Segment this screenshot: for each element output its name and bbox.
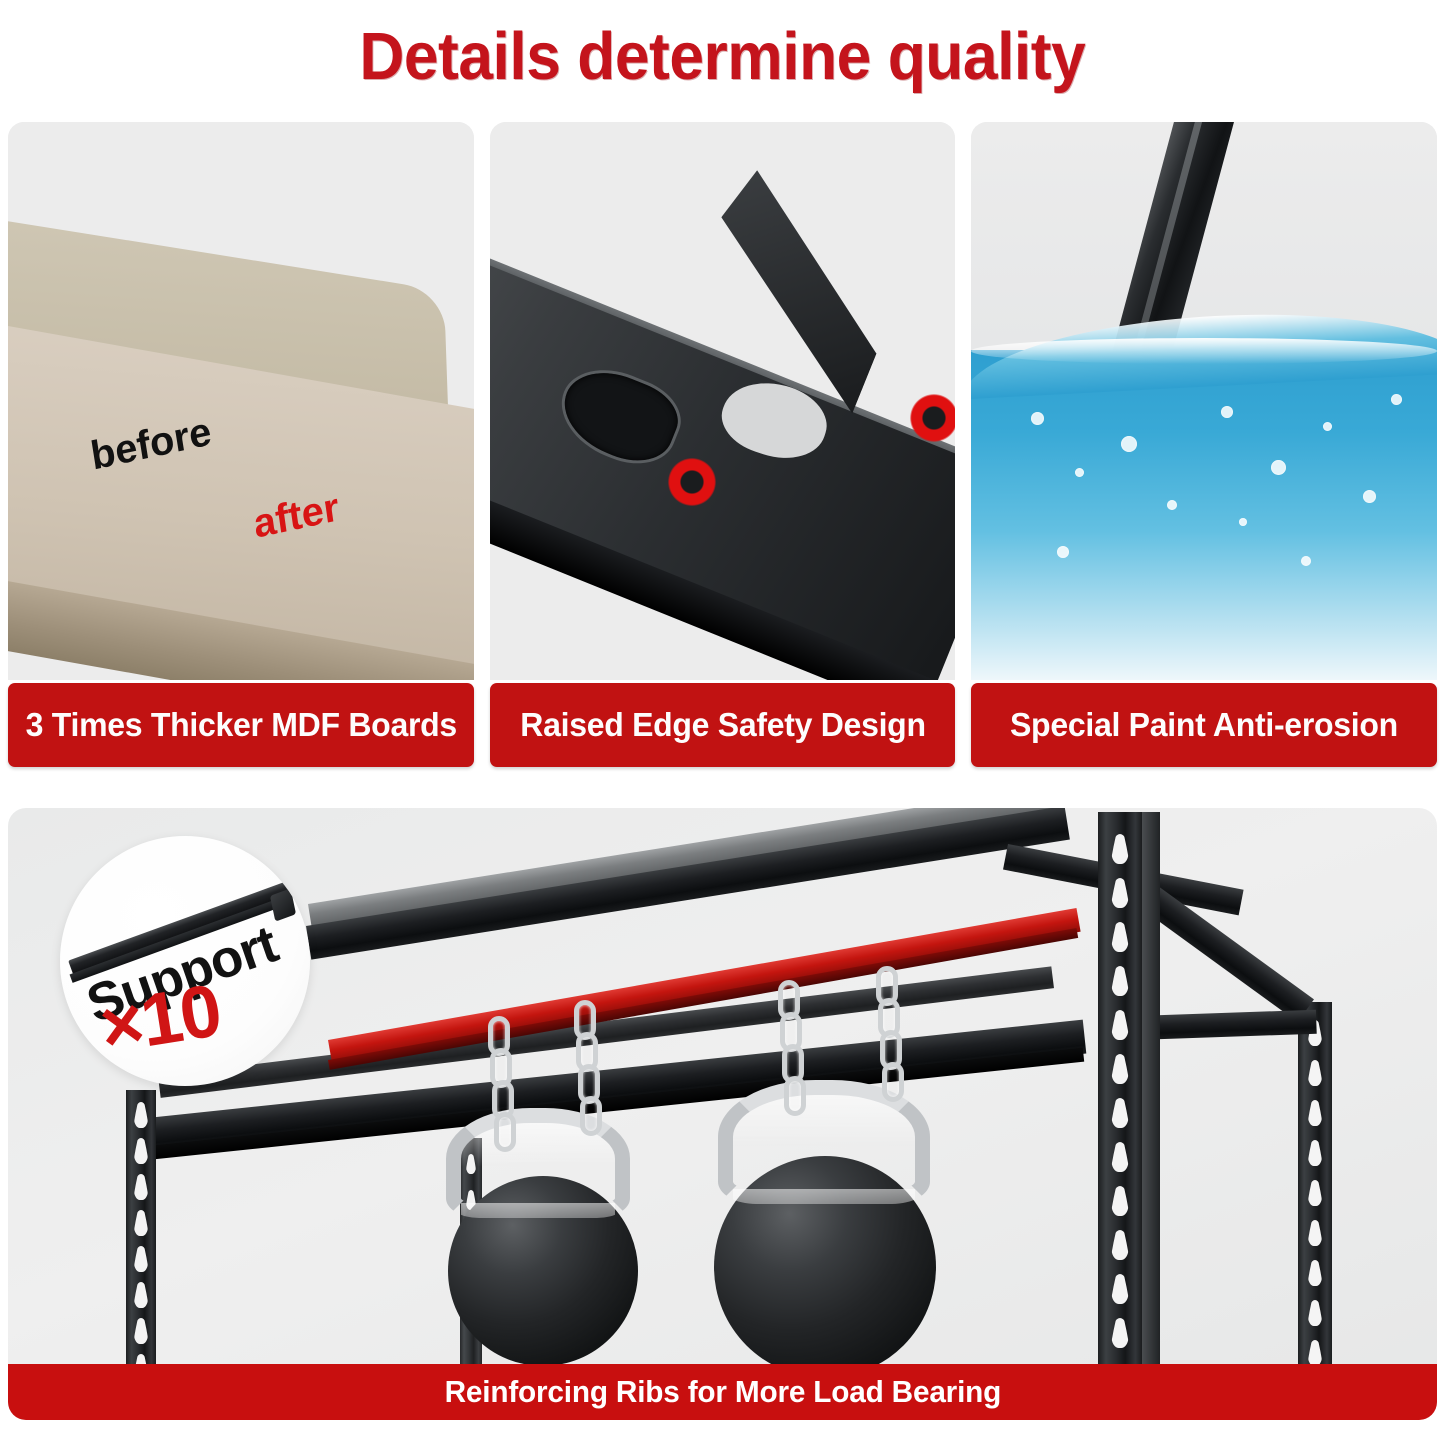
rack-slot (134, 1210, 148, 1236)
kettlebell-handle-left (446, 1108, 630, 1218)
caption-text-hero: Reinforcing Ribs for More Load Bearing (444, 1374, 1001, 1410)
bubble (1363, 490, 1376, 503)
bubble (1391, 394, 1402, 405)
rack-slot (1112, 1098, 1129, 1128)
rack-slot (1308, 1300, 1322, 1326)
rack-slot (1112, 1142, 1129, 1172)
rack-slot (1308, 1340, 1322, 1366)
rack-slot (1112, 1054, 1129, 1084)
chain-link (580, 1096, 602, 1136)
rack-slot (1308, 1220, 1322, 1246)
rack-slot (134, 1174, 148, 1200)
bubble (1301, 556, 1311, 566)
bubble (1323, 422, 1332, 431)
rack-slot (1112, 878, 1129, 908)
chain-link (882, 1062, 904, 1102)
chain-link (494, 1112, 516, 1152)
kettlebell-handle-left-wrap (438, 1108, 638, 1228)
feature-panel-raised-edge: Raised Edge Safety Design (490, 122, 956, 772)
caption-bar-raised-edge: Raised Edge Safety Design (490, 683, 956, 767)
rack-slot (1308, 1140, 1322, 1166)
kettlebell-handle-right-wrap (708, 1080, 938, 1210)
water-foam (971, 338, 1437, 364)
rack-upright-left-front (126, 1090, 156, 1390)
caption-bar-mdf-boards: 3 Times Thicker MDF Boards (8, 683, 474, 767)
rack-slot (134, 1138, 148, 1164)
chain-link (784, 1076, 806, 1116)
water-scene (971, 122, 1437, 680)
rack-slot (1112, 922, 1129, 952)
bubble (1075, 468, 1084, 477)
rack-upright-right-front (1098, 812, 1142, 1390)
rack-slot (1112, 1318, 1129, 1348)
caption-text-mdf-boards: 3 Times Thicker MDF Boards (25, 706, 456, 744)
rack-upright-right-side-face (1142, 812, 1160, 1390)
red-highlight-ring-right (910, 394, 956, 442)
page-title: Details determine quality (360, 18, 1086, 95)
rack-slot (1308, 1100, 1322, 1126)
bubble (1271, 460, 1286, 475)
bracket-closeup-image (490, 122, 956, 680)
rack-slot (1308, 1260, 1322, 1286)
rack-slot (134, 1282, 148, 1308)
rack-slot (1112, 1230, 1129, 1260)
feature-panel-anti-erosion: Special Paint Anti-erosion (971, 122, 1437, 772)
rack-side-rail-right (1136, 1010, 1317, 1040)
feature-panel-mdf-boards: before after 3 Times Thicker MDF Boards (8, 122, 474, 772)
rack-slot (134, 1246, 148, 1272)
rack-slot (1112, 834, 1129, 864)
bubble (1121, 436, 1137, 452)
caption-text-raised-edge: Raised Edge Safety Design (520, 706, 925, 744)
bracket-scene (490, 122, 956, 680)
rack-slot (1112, 1274, 1129, 1304)
feature-panels-row: before after 3 Times Thicker MDF Boards … (8, 122, 1437, 772)
rack-upright-right-rear (1298, 1002, 1332, 1390)
support-x10-badge: Support ×10 (60, 836, 310, 1086)
rack-slot (134, 1102, 148, 1128)
page-title-bar: Details determine quality (0, 0, 1445, 112)
hero-rack-image: Support ×10 Reinforcing Ribs for More Lo… (8, 808, 1437, 1420)
caption-text-anti-erosion: Special Paint Anti-erosion (1010, 706, 1398, 744)
bubble (1031, 412, 1044, 425)
caption-bar-hero: Reinforcing Ribs for More Load Bearing (8, 1364, 1437, 1420)
rack-slot (1112, 966, 1129, 996)
red-highlight-ring-left (668, 458, 716, 506)
rack-slot (1112, 1186, 1129, 1216)
caption-bar-anti-erosion: Special Paint Anti-erosion (971, 683, 1437, 767)
rack-slot (1308, 1180, 1322, 1206)
water-submersion-image (971, 122, 1437, 680)
bubble (1239, 518, 1247, 526)
bubble (1167, 500, 1177, 510)
bubble (1221, 406, 1233, 418)
water-body (971, 350, 1437, 680)
bubble (1057, 546, 1069, 558)
rack-slot (1112, 1010, 1129, 1040)
badge-multiplier-label: ×10 (94, 967, 225, 1070)
rack-slot (1308, 1060, 1322, 1086)
mdf-board-comparison-image: before after (8, 122, 474, 680)
mdf-scene: before after (8, 122, 474, 680)
rack-slot (134, 1318, 148, 1344)
